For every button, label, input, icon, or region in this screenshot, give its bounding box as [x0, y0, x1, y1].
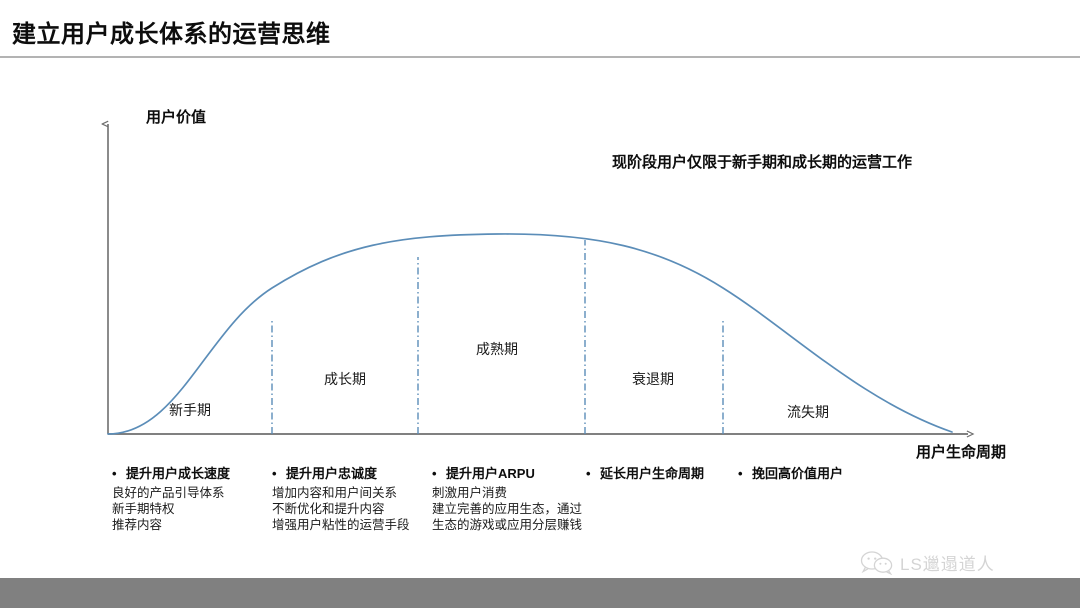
bullet-column-loyalty: •提升用户忠诚度 增加内容和用户间关系 不断优化和提升内容 增强用户粘性的运营手…: [272, 466, 410, 533]
stage-label-churn: 流失期: [787, 402, 829, 422]
bullet-marker-icon: •: [272, 466, 286, 482]
bullet-detail-line: 良好的产品引导体系: [112, 485, 230, 501]
bullet-marker-icon: •: [432, 466, 446, 482]
bullet-heading: •提升用户忠诚度: [272, 466, 410, 482]
bullet-detail-line: 刺激用户消费: [432, 485, 582, 501]
bullet-detail-line: 增加内容和用户间关系: [272, 485, 410, 501]
bullet-heading-text: 延长用户生命周期: [600, 466, 704, 481]
bullet-heading: •提升用户ARPU: [432, 466, 582, 482]
headline-annotation: 现阶段用户仅限于新手期和成长期的运营工作: [612, 151, 912, 172]
stage-label-growth: 成长期: [324, 369, 366, 389]
stage-label-mature: 成熟期: [476, 339, 518, 359]
bullet-detail-line: 新手期特权: [112, 501, 230, 517]
bullet-heading-text: 提升用户忠诚度: [286, 466, 377, 481]
y-axis-title: 用户价值: [146, 106, 206, 127]
bullet-heading-text: 提升用户成长速度: [126, 466, 230, 481]
bullet-column-growth-speed: •提升用户成长速度 良好的产品引导体系 新手期特权 推荐内容: [112, 466, 230, 533]
bullet-detail-line: 推荐内容: [112, 517, 230, 533]
x-axis-title: 用户生命周期: [916, 441, 1006, 462]
bullet-columns: •提升用户成长速度 良好的产品引导体系 新手期特权 推荐内容 •提升用户忠诚度 …: [0, 466, 1080, 546]
bullet-column-lifecycle-extension: •延长用户生命周期: [586, 466, 704, 482]
bullet-marker-icon: •: [112, 466, 126, 482]
bullet-detail-line: 生态的游戏或应用分层赚钱: [432, 517, 582, 533]
wechat-icon: [860, 551, 894, 575]
bullet-heading: •挽回高价值用户: [738, 466, 843, 482]
bullet-heading-text: 提升用户ARPU: [446, 466, 535, 481]
watermark: LS邋遢道人: [860, 550, 995, 575]
bullet-heading-text: 挽回高价值用户: [752, 466, 843, 481]
stage-dividers: [272, 240, 723, 434]
bullet-marker-icon: •: [738, 466, 752, 482]
bullet-detail-line: 建立完善的应用生态，通过: [432, 501, 582, 517]
footer-bar: [0, 578, 1080, 608]
bullet-heading: •延长用户生命周期: [586, 466, 704, 482]
stage-label-newbie: 新手期: [169, 400, 211, 420]
bullet-marker-icon: •: [586, 466, 600, 482]
bullet-detail-line: 不断优化和提升内容: [272, 501, 410, 517]
bullet-column-winback: •挽回高价值用户: [738, 466, 843, 482]
bullet-detail-line: 增强用户粘性的运营手段: [272, 517, 410, 533]
stage-label-decline: 衰退期: [632, 369, 674, 389]
watermark-text: LS邋遢道人: [900, 550, 995, 575]
slide-canvas: 建立用户成长体系的运营思维 用户价值 用户生命周期 现阶段用户仅限于新手期和成长…: [0, 0, 1080, 608]
bullet-heading: •提升用户成长速度: [112, 466, 230, 482]
bullet-column-arpu: •提升用户ARPU 刺激用户消费 建立完善的应用生态，通过 生态的游戏或应用分层…: [432, 466, 582, 533]
bullet-detail-lines: 增加内容和用户间关系 不断优化和提升内容 增强用户粘性的运营手段: [272, 485, 410, 533]
bullet-detail-lines: 刺激用户消费 建立完善的应用生态，通过 生态的游戏或应用分层赚钱: [432, 485, 582, 533]
bullet-detail-lines: 良好的产品引导体系 新手期特权 推荐内容: [112, 485, 230, 533]
